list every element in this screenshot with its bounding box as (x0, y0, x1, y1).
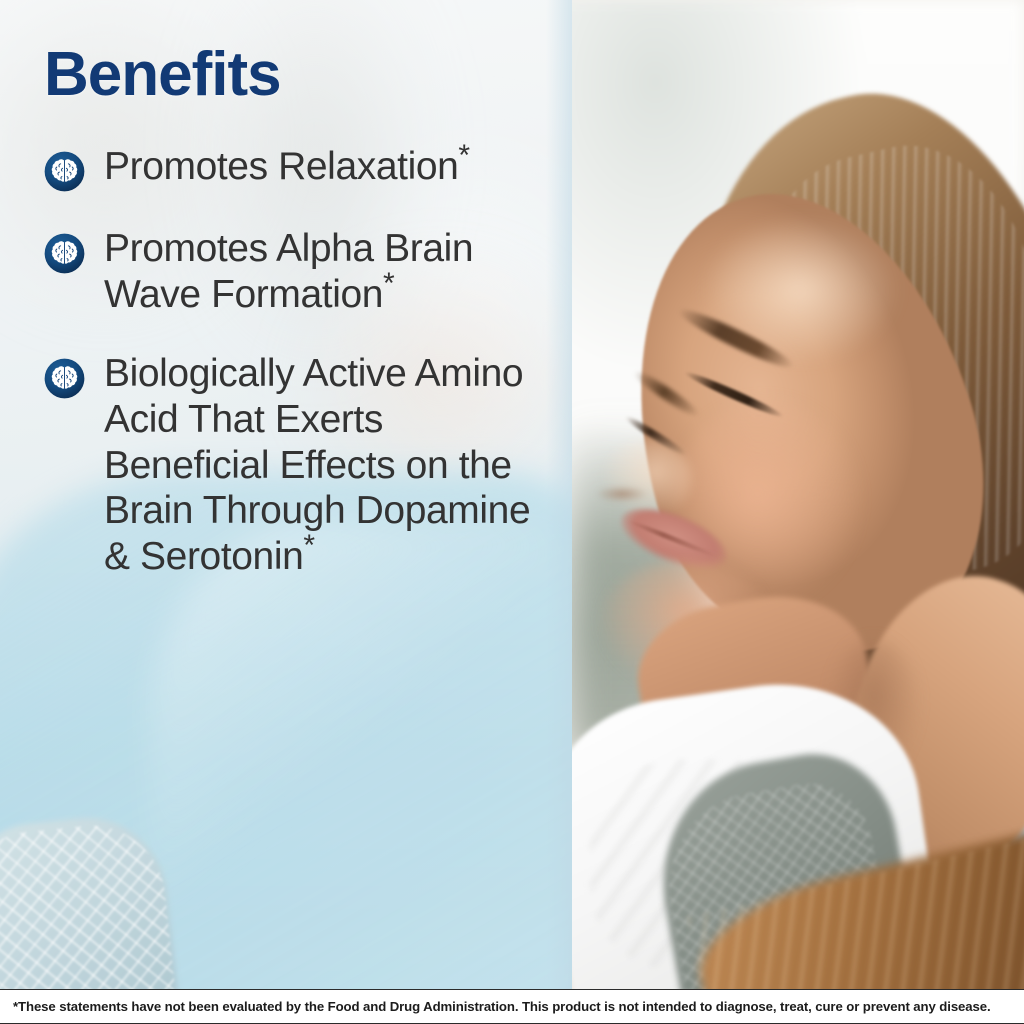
footnote-marker-1: * (383, 267, 394, 300)
photo-nose-shadow (596, 486, 648, 502)
product-benefits-infographic: Benefits (0, 0, 1024, 1024)
benefit-text-1: Promotes Alpha Brain Wave Formation (104, 227, 473, 316)
footnote-marker-0: * (458, 139, 469, 172)
footnote-marker-2: * (303, 529, 314, 562)
benefit-text-2: Biologically Active Amino Acid That Exer… (104, 352, 530, 578)
benefit-label: Promotes Alpha Brain Wave Formation* (104, 226, 554, 317)
page-title: Benefits (44, 44, 554, 106)
benefit-label: Promotes Relaxation* (104, 144, 470, 190)
brain-icon (44, 233, 85, 274)
benefit-item: Biologically Active Amino Acid That Exer… (44, 351, 554, 579)
benefit-item: Promotes Alpha Brain Wave Formation* (44, 226, 554, 317)
brain-icon (44, 151, 85, 192)
benefit-text-0: Promotes Relaxation (104, 145, 458, 188)
brain-icon (44, 358, 85, 399)
benefit-item: Promotes Relaxation* (44, 144, 554, 192)
benefits-content: Benefits (0, 0, 572, 989)
benefit-label: Biologically Active Amino Acid That Exer… (104, 351, 554, 579)
disclaimer-text: *These statements have not been evaluate… (0, 999, 991, 1014)
disclaimer-bar: *These statements have not been evaluate… (0, 989, 1024, 1024)
